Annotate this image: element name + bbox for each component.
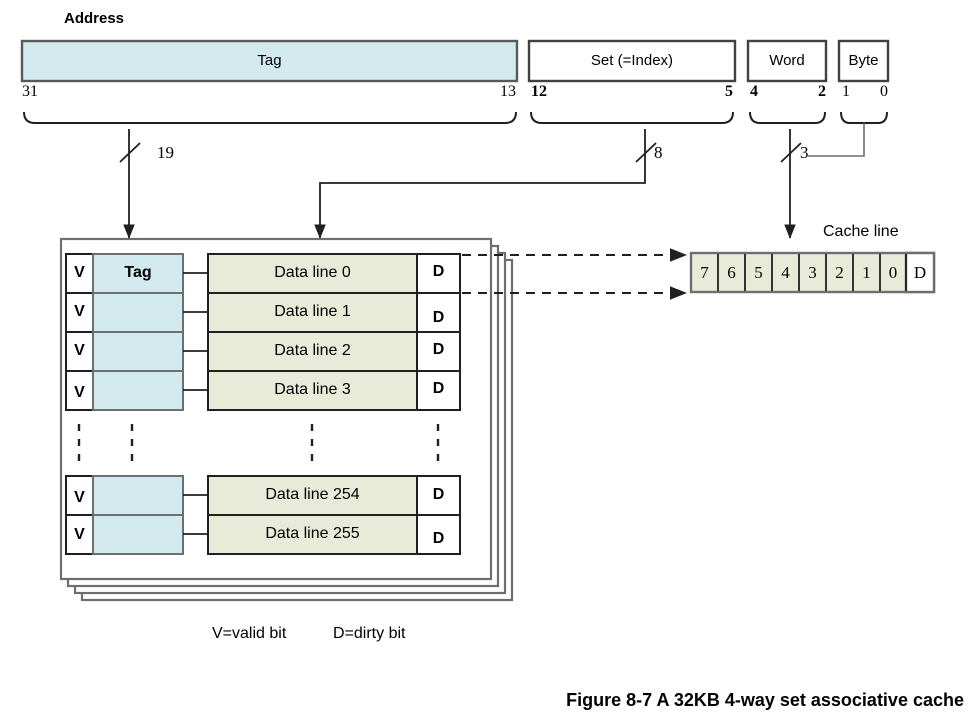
cache-line-byte: 4 bbox=[772, 263, 799, 283]
cache-line-byte: 1 bbox=[853, 263, 880, 283]
valid-bit-cell: V bbox=[66, 384, 93, 402]
figure-svg bbox=[0, 0, 980, 722]
dirty-bit-cell: D bbox=[417, 380, 460, 398]
bit-index-byte-lsb: 0 bbox=[868, 83, 888, 101]
valid-bit-cell: V bbox=[66, 342, 93, 360]
dirty-bit-cell: D bbox=[417, 263, 460, 281]
address-bus-arrows bbox=[120, 129, 801, 238]
dirty-bit-cell: D bbox=[417, 530, 460, 548]
cache-line-byte: 3 bbox=[799, 263, 826, 283]
address-label: Address bbox=[64, 10, 124, 27]
data-line-cell: Data line 254 bbox=[208, 486, 417, 504]
cache-line-byte: 6 bbox=[718, 263, 745, 283]
data-line-cell: Data line 3 bbox=[208, 381, 417, 399]
bit-index-tag-msb: 31 bbox=[22, 83, 38, 101]
dirty-bit-cell: D bbox=[417, 486, 460, 504]
bit-index-set-msb: 12 bbox=[531, 83, 547, 101]
data-line-cell: Data line 255 bbox=[208, 525, 417, 543]
column-header-tag: Tag bbox=[93, 264, 183, 282]
dirty-bit-cell: D bbox=[417, 341, 460, 359]
address-field-tag-label: Tag bbox=[22, 52, 517, 69]
cache-line-byte: 7 bbox=[691, 263, 718, 283]
bit-index-tag-lsb: 13 bbox=[494, 83, 516, 101]
cache-line-label: Cache line bbox=[823, 223, 899, 241]
valid-bit-cell: V bbox=[66, 303, 93, 321]
address-field-word-label: Word bbox=[748, 52, 826, 69]
bus-width-word: 3 bbox=[800, 143, 809, 163]
field-braces bbox=[24, 112, 887, 123]
cache-line-byte: 5 bbox=[745, 263, 772, 283]
legend-valid-bit: V=valid bit bbox=[212, 625, 286, 643]
cache-line-byte: 0 bbox=[880, 263, 906, 283]
column-header-valid: V bbox=[66, 264, 93, 282]
figure-caption: Figure 8-7 A 32KB 4-way set associative … bbox=[0, 690, 964, 711]
cache-line-dirty-bit: D bbox=[906, 263, 934, 283]
data-line-cell: Data line 2 bbox=[208, 342, 417, 360]
figure-canvas: Address Tag Set (=Index) Word Byte 31 13… bbox=[0, 0, 980, 722]
bit-index-word-lsb: 2 bbox=[806, 83, 826, 101]
bus-width-tag: 19 bbox=[157, 143, 174, 163]
cache-line-byte: 2 bbox=[826, 263, 853, 283]
bit-index-byte-msb: 1 bbox=[842, 83, 850, 101]
byte-connector bbox=[808, 123, 864, 156]
dirty-bit-cell: D bbox=[417, 309, 460, 327]
bit-index-word-msb: 4 bbox=[750, 83, 758, 101]
address-field-set-label: Set (=Index) bbox=[529, 52, 735, 69]
legend-dirty-bit: D=dirty bit bbox=[333, 625, 405, 643]
bit-index-set-lsb: 5 bbox=[713, 83, 733, 101]
valid-bit-cell: V bbox=[66, 489, 93, 507]
valid-bit-cell: V bbox=[66, 526, 93, 544]
data-line-cell: Data line 0 bbox=[208, 264, 417, 282]
data-line-cell: Data line 1 bbox=[208, 303, 417, 321]
bus-width-set: 8 bbox=[654, 143, 663, 163]
address-field-byte-label: Byte bbox=[839, 52, 888, 69]
